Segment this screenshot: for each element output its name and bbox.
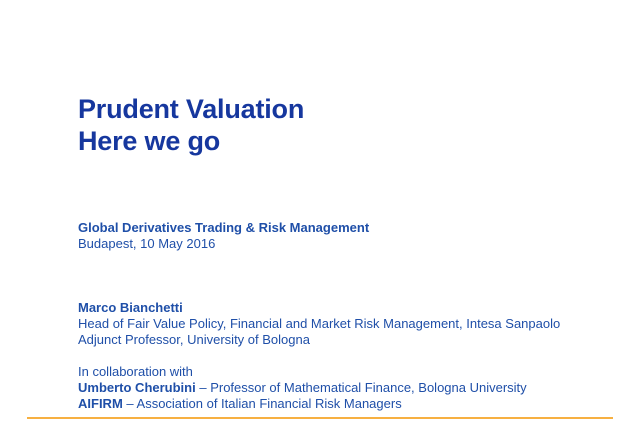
event-block: Global Derivatives Trading & Risk Manage… bbox=[78, 220, 369, 252]
collaboration-entry: AIFIRM – Association of Italian Financia… bbox=[78, 396, 527, 412]
author-role-line-1: Head of Fair Value Policy, Financial and… bbox=[78, 316, 560, 332]
collaboration-entry: Umberto Cherubini – Professor of Mathema… bbox=[78, 380, 527, 396]
collaboration-intro: In collaboration with bbox=[78, 364, 527, 380]
collaboration-entry-lead: AIFIRM bbox=[78, 396, 123, 411]
footer-divider bbox=[27, 417, 613, 419]
collaboration-entry-rest: – Association of Italian Financial Risk … bbox=[123, 396, 402, 411]
collaboration-entry-lead: Umberto Cherubini bbox=[78, 380, 196, 395]
author-role-line-2: Adjunct Professor, University of Bologna bbox=[78, 332, 560, 348]
page-title: Prudent Valuation Here we go bbox=[78, 93, 304, 157]
author-name: Marco Bianchetti bbox=[78, 300, 560, 316]
event-name: Global Derivatives Trading & Risk Manage… bbox=[78, 220, 369, 236]
collaboration-block: In collaboration with Umberto Cherubini … bbox=[78, 364, 527, 412]
title-line-1: Prudent Valuation bbox=[78, 93, 304, 125]
title-slide: Prudent Valuation Here we go Global Deri… bbox=[0, 0, 640, 443]
author-block: Marco Bianchetti Head of Fair Value Poli… bbox=[78, 300, 560, 348]
title-line-2: Here we go bbox=[78, 125, 304, 157]
event-place-date: Budapest, 10 May 2016 bbox=[78, 236, 369, 252]
collaboration-entry-rest: – Professor of Mathematical Finance, Bol… bbox=[196, 380, 527, 395]
